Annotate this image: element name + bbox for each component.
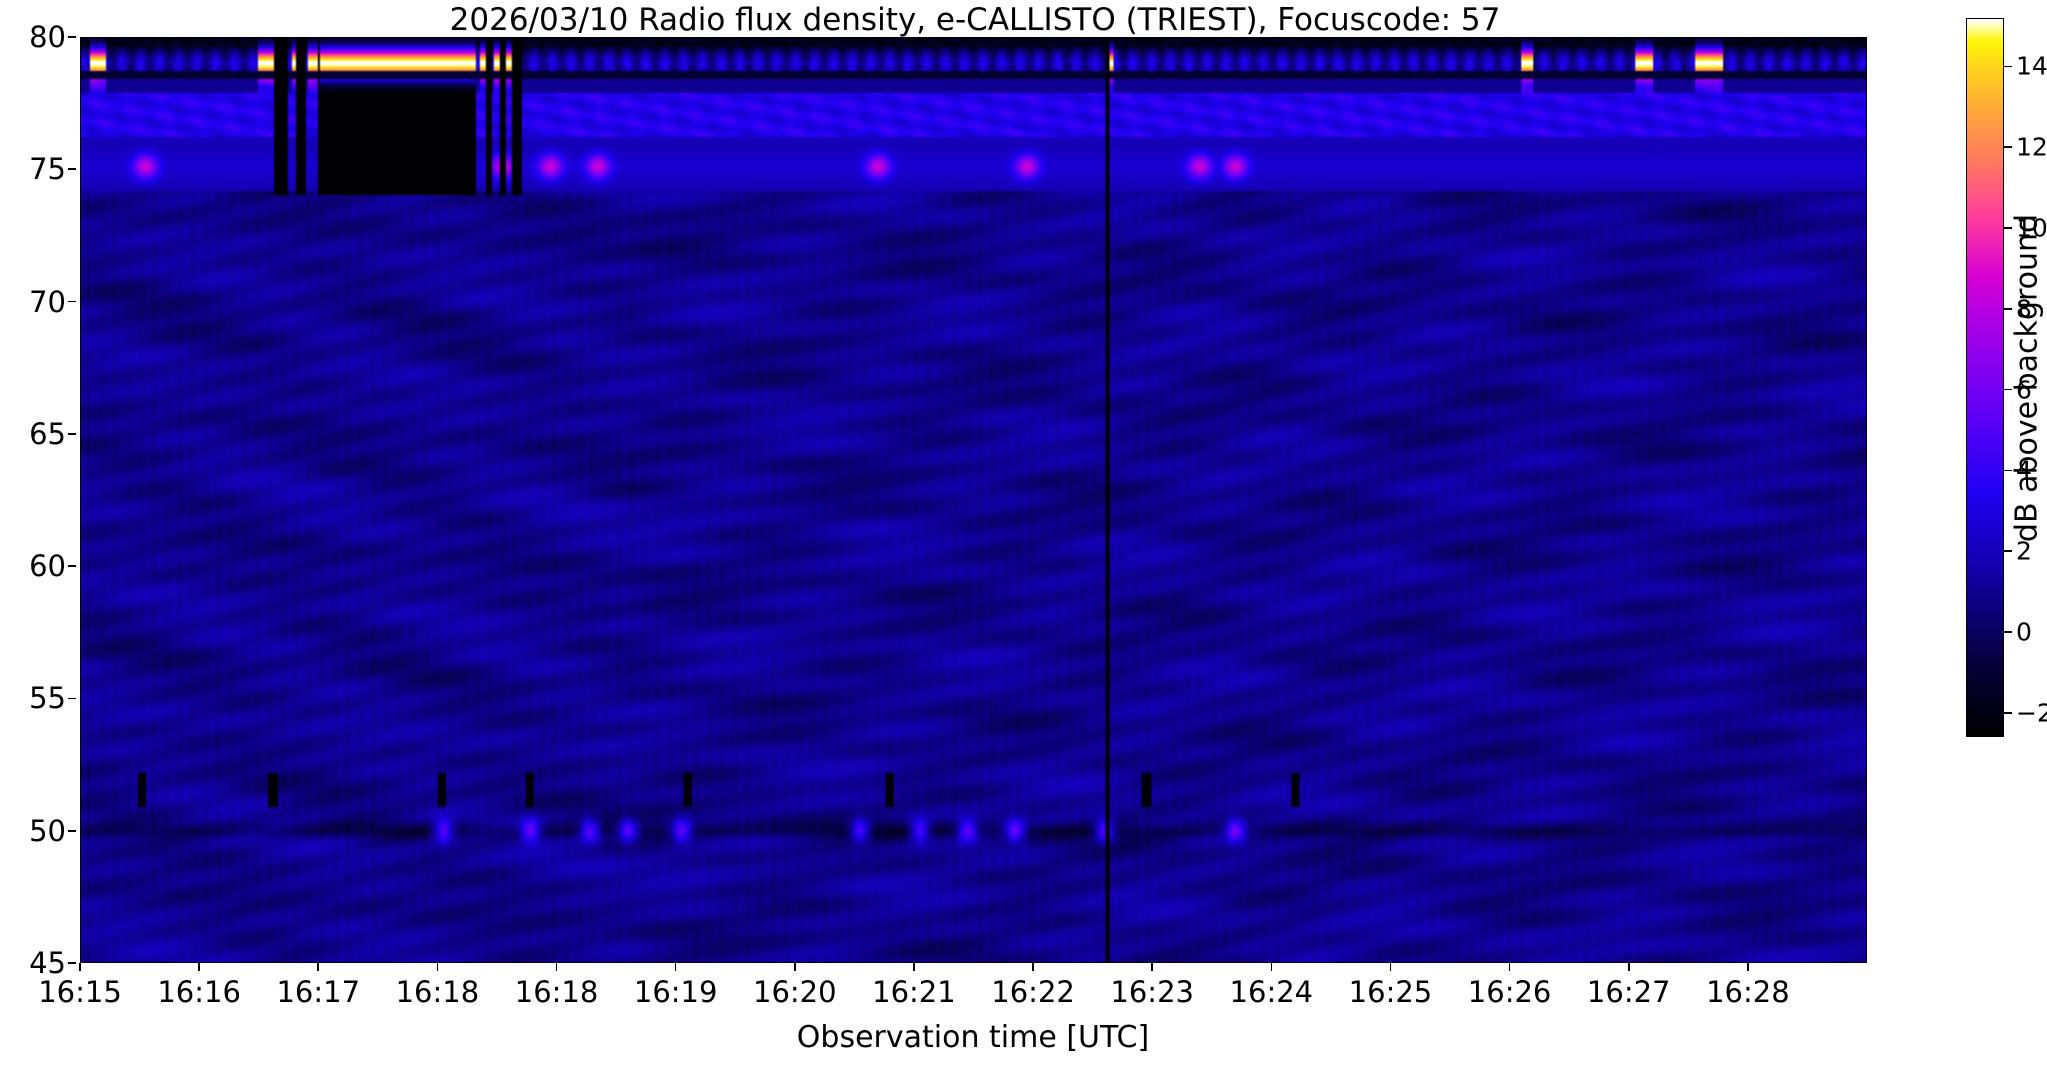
colorbar-tick-mark — [2004, 146, 2012, 148]
y-tick-label: 70 — [29, 285, 66, 319]
colorbar-tick-mark — [2004, 66, 2012, 68]
x-tick-mark — [1032, 963, 1034, 971]
colorbar-tick-label: 0 — [2016, 617, 2032, 646]
x-tick-mark — [1509, 963, 1511, 971]
x-tick-label: 16:18 — [396, 975, 480, 1009]
x-tick-label: 16:25 — [1349, 975, 1433, 1009]
colorbar-tick-label: 12 — [2016, 133, 2047, 162]
colorbar-label: dB above background — [2010, 214, 2045, 542]
x-tick-mark — [198, 963, 200, 971]
y-tick-mark — [68, 168, 76, 170]
y-tick-mark — [68, 36, 76, 38]
spectrogram-plot — [80, 37, 1867, 963]
x-tick-label: 16:15 — [38, 975, 122, 1009]
figure-root: 2026/03/10 Radio flux density, e-CALLIST… — [0, 0, 2047, 1067]
x-tick-label: 16:16 — [157, 975, 241, 1009]
colorbar-tick-label: 14 — [2016, 52, 2047, 81]
x-tick-label: 16:28 — [1706, 975, 1790, 1009]
y-axis-label: Frequency [MHz] — [0, 374, 1, 626]
y-tick-label: 75 — [29, 152, 66, 186]
x-tick-mark — [1151, 963, 1153, 971]
y-tick-mark — [68, 962, 76, 964]
x-tick-mark — [913, 963, 915, 971]
x-tick-mark — [1271, 963, 1273, 971]
y-tick-mark — [68, 565, 76, 567]
y-tick-label: 50 — [29, 814, 66, 848]
y-tick-mark — [68, 698, 76, 700]
colorbar-tick-mark — [2004, 712, 2012, 714]
colorbar-tick-mark — [2004, 631, 2012, 633]
x-tick-label: 16:21 — [872, 975, 956, 1009]
y-tick-label: 60 — [29, 549, 66, 583]
x-tick-mark — [437, 963, 439, 971]
x-tick-label: 16:27 — [1587, 975, 1671, 1009]
x-tick-mark — [675, 963, 677, 971]
y-tick-label: 55 — [29, 681, 66, 715]
x-tick-mark — [1390, 963, 1392, 971]
page-title: 2026/03/10 Radio flux density, e-CALLIST… — [80, 2, 1870, 38]
x-tick-mark — [79, 963, 81, 971]
x-tick-label: 16:17 — [276, 975, 360, 1009]
y-tick-mark — [68, 301, 76, 303]
x-tick-mark — [317, 963, 319, 971]
x-tick-label: 16:26 — [1468, 975, 1552, 1009]
spectrogram-image — [80, 37, 1867, 963]
x-tick-mark — [794, 963, 796, 971]
colorbar-tick-mark — [2004, 550, 2012, 552]
x-tick-label: 16:22 — [991, 975, 1075, 1009]
colorbar-tick-label: −2 — [2016, 698, 2047, 727]
colorbar — [1966, 18, 2004, 737]
x-tick-label: 16:23 — [1110, 975, 1194, 1009]
x-tick-mark — [1747, 963, 1749, 971]
x-tick-mark — [1628, 963, 1630, 971]
y-tick-label: 65 — [29, 417, 66, 451]
x-axis-label: Observation time [UTC] — [797, 1020, 1149, 1055]
y-tick-mark — [68, 433, 76, 435]
x-tick-label: 16:24 — [1230, 975, 1314, 1009]
y-tick-label: 80 — [29, 20, 66, 54]
y-tick-mark — [68, 830, 76, 832]
x-tick-mark — [556, 963, 558, 971]
colorbar-gradient — [1966, 18, 2004, 737]
x-tick-label: 16:19 — [634, 975, 718, 1009]
x-tick-label: 16:18 — [515, 975, 599, 1009]
x-tick-label: 16:20 — [753, 975, 837, 1009]
